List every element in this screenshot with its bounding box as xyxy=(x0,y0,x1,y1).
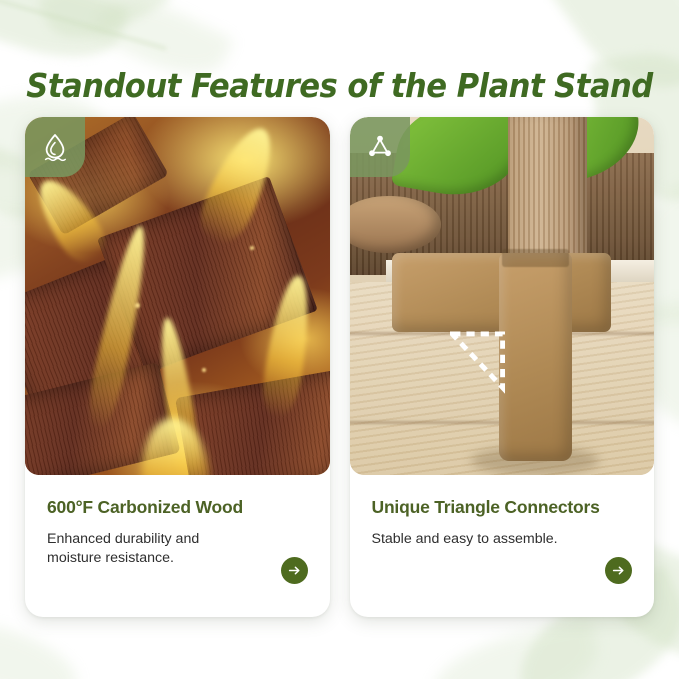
leaf-decor-top-left-1 xyxy=(0,0,129,75)
feature-badge-moisture xyxy=(25,117,85,177)
feature-photo-carbonized-wood xyxy=(25,117,330,475)
feature-card-body-2: Unique Triangle Connectors Stable and ea… xyxy=(350,475,655,617)
leaf-decor-top-left-2 xyxy=(36,0,171,57)
feature-description-2: Stable and easy to assemble. xyxy=(372,530,582,549)
arrow-right-icon xyxy=(611,563,626,578)
feature-card-body-1: 600°F Carbonized Wood Enhanced durabilit… xyxy=(25,475,330,617)
leaf-decor-bottom-right-3 xyxy=(425,619,606,679)
feature-badge-triangle xyxy=(350,117,410,177)
water-drop-icon xyxy=(41,132,69,162)
connector-vertical-leg xyxy=(499,253,572,461)
leaf-decor-bottom-left-1 xyxy=(0,613,85,679)
feature-heading-1: 600°F Carbonized Wood xyxy=(47,497,308,518)
feature-heading-2: Unique Triangle Connectors xyxy=(372,497,633,518)
page-title: Standout Features of the Plant Stand xyxy=(24,66,655,105)
feature-card-triangle-connectors[interactable]: Unique Triangle Connectors Stable and ea… xyxy=(350,117,655,617)
connector-post-socket xyxy=(502,249,569,267)
arrow-right-button-2[interactable] xyxy=(605,557,632,584)
feature-highlight-page: Standout Features of the Plant Stand xyxy=(0,0,679,679)
dashed-triangle-annotation xyxy=(450,325,505,397)
ember-spark xyxy=(202,368,206,372)
feature-photo-triangle-connector xyxy=(350,117,655,475)
arrow-right-icon xyxy=(287,563,302,578)
arrow-right-button-1[interactable] xyxy=(281,557,308,584)
feature-cards-container: 600°F Carbonized Wood Enhanced durabilit… xyxy=(25,117,654,617)
triangle-connector-icon xyxy=(366,133,394,161)
feature-card-carbonized-wood[interactable]: 600°F Carbonized Wood Enhanced durabilit… xyxy=(25,117,330,617)
ember-spark xyxy=(135,303,140,308)
feature-description-1: Enhanced durability and moisture resista… xyxy=(47,530,257,567)
leaf-stem-top-left xyxy=(0,0,167,51)
